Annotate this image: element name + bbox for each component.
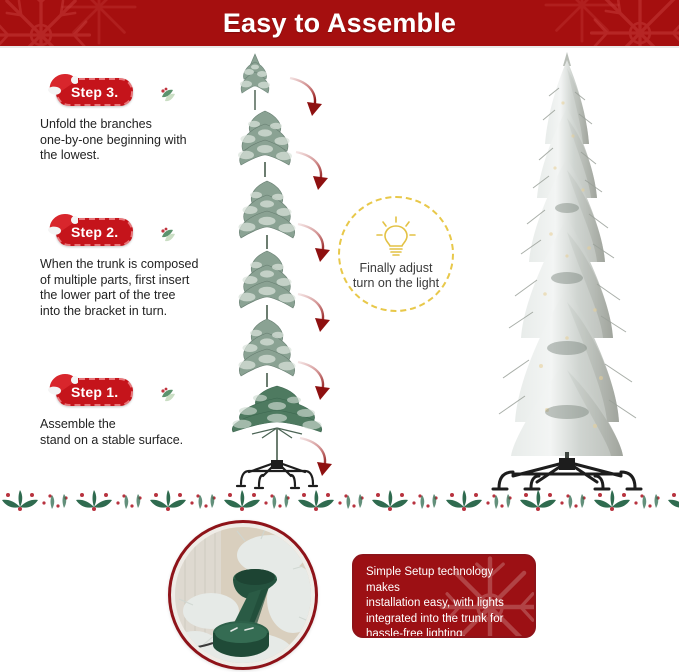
trunk-connector-illustration [175,527,311,663]
curved-arrow-icon [292,290,334,340]
santa-hat-icon [46,72,78,98]
curved-arrow-icon [294,434,336,484]
step-block-3: Step 3. Unfold the branches one-by-one b… [38,78,248,164]
curved-arrow-icon [284,74,326,124]
holly-divider [0,486,679,512]
step-text-3: Unfold the branches one-by-one beginning… [40,117,248,164]
step-block-1: Step 1. Assemble the stand on a stable s… [38,378,248,448]
header-banner: Easy to Assemble [0,0,679,46]
holly-berry-border [0,486,679,512]
step-text-1: Assemble the stand on a stable surface. [40,417,248,448]
feature-callout: Simple Setup technology makes installati… [352,554,536,638]
step-badge-1: Step 1. [38,378,133,410]
step-text-2: When the trunk is composed of multiple p… [40,257,248,319]
holly-sprig-icon [158,224,178,244]
curved-arrow-icon [292,358,334,408]
tip-text: Finally adjust turn on the light [353,261,439,291]
infographic-page: Easy to Assemble Step 3. Unfold the bran… [0,0,679,672]
trunk-connector-photo [175,527,311,663]
santa-hat-icon [46,212,78,238]
main-tree-image [455,48,679,493]
holly-sprig-icon [158,84,178,104]
tip-callout: Finally adjust turn on the light [338,196,454,312]
tree-section-top [222,52,288,114]
detail-photo-circle [168,520,318,670]
step-badge-2: Step 2. [38,218,133,250]
holly-sprig-icon [158,384,178,404]
feature-callout-text: Simple Setup technology makes installati… [366,565,522,638]
christmas-tree-icon [455,48,679,493]
curved-arrow-icon [290,148,332,198]
curved-arrow-icon [292,220,334,270]
step-block-2: Step 2. When the trunk is composed of mu… [38,218,248,319]
step-badge-3: Step 3. [38,78,133,110]
page-title: Easy to Assemble [0,0,679,46]
light-bulb-icon [376,216,416,260]
santa-hat-icon [46,372,78,398]
assembly-column [222,52,342,492]
